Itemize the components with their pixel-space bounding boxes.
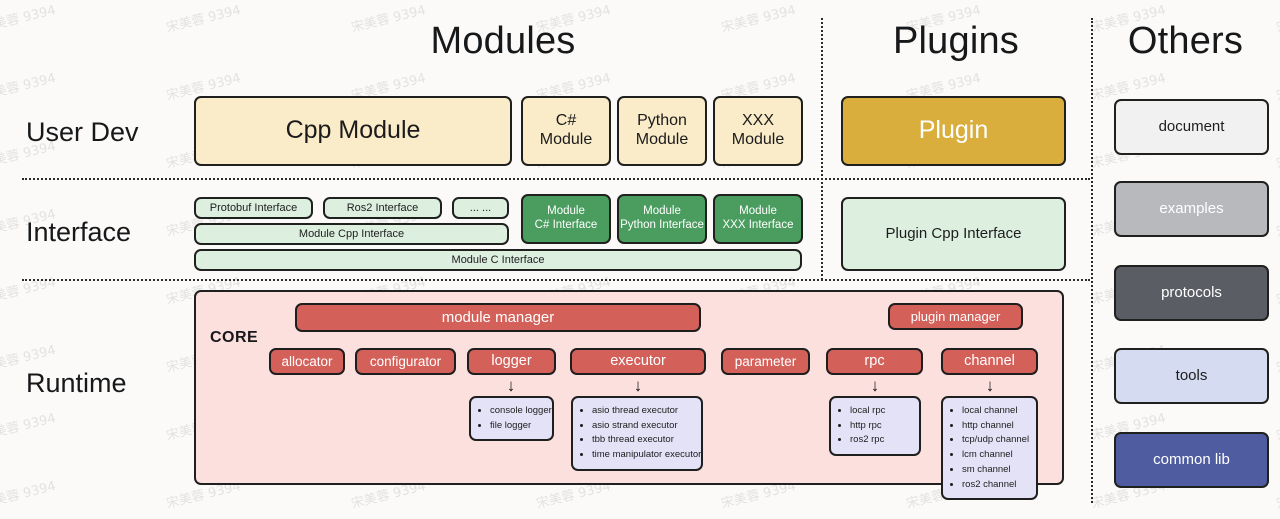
column-title-others: Others [1091, 20, 1280, 63]
row-label-interface: Interface [26, 217, 131, 248]
csharp-module-line1: C# [540, 112, 592, 131]
list-item: tcp/udp channel [962, 433, 1028, 448]
watermark-text: 宋美蓉 9394 [0, 475, 57, 512]
list-item: tbb thread executor [592, 433, 693, 448]
plugin-manager-box[interactable]: plugin manager [888, 303, 1023, 330]
watermark-text: 宋美蓉 9394 [1274, 339, 1280, 376]
watermark-text: 宋美蓉 9394 [1274, 67, 1280, 104]
channel-box[interactable]: channel [941, 348, 1038, 375]
module-xxx-interface-line1: Module [739, 205, 777, 219]
python-module-line2: Module [636, 131, 688, 150]
arrow-down-icon: ↓ [983, 376, 997, 396]
arrow-down-icon: ↓ [868, 376, 882, 396]
arrow-down-icon: ↓ [504, 376, 518, 396]
list-item: asio thread executor [592, 404, 693, 419]
list-item: ros2 channel [962, 478, 1028, 493]
column-title-modules: Modules [185, 20, 821, 63]
module-csharp-interface-box[interactable]: Module C# Interface [521, 194, 611, 244]
python-module-line1: Python [636, 112, 688, 131]
module-xxx-interface-line2: XXX Interface [723, 219, 794, 233]
plugin-cpp-interface-box[interactable]: Plugin Cpp Interface [841, 197, 1066, 271]
list-item: local rpc [850, 404, 911, 419]
list-item: file logger [490, 419, 544, 434]
channel-implementations-list: local channelhttp channeltcp/udp channel… [941, 396, 1038, 500]
watermark-text: 宋美蓉 9394 [1274, 271, 1280, 308]
others-item-protocols[interactable]: protocols [1114, 265, 1269, 321]
module-csharp-interface-line1: Module [547, 205, 585, 219]
list-item: http rpc [850, 419, 911, 434]
others-item-examples[interactable]: examples [1114, 181, 1269, 237]
more-interfaces-box[interactable]: ... ... [452, 197, 509, 219]
parameter-box[interactable]: parameter [721, 348, 810, 375]
executor-box[interactable]: executor [570, 348, 706, 375]
module-cpp-interface-box[interactable]: Module Cpp Interface [194, 223, 509, 245]
row-label-runtime: Runtime [26, 368, 127, 399]
row-separator-interface-runtime [22, 279, 1090, 281]
module-python-interface-box[interactable]: Module Python Interface [617, 194, 707, 244]
cpp-module-box[interactable]: Cpp Module [194, 96, 512, 166]
others-item-tools[interactable]: tools [1114, 348, 1269, 404]
watermark-text: 宋美蓉 9394 [0, 0, 57, 36]
list-item: http channel [962, 419, 1028, 434]
column-separator-plugins-others [1091, 18, 1093, 503]
csharp-module-box[interactable]: C# Module [521, 96, 611, 166]
logger-box[interactable]: logger [467, 348, 556, 375]
architecture-diagram: 宋美蓉 9394宋美蓉 9394宋美蓉 9394宋美蓉 9394宋美蓉 9394… [0, 0, 1280, 519]
xxx-module-line2: Module [732, 131, 784, 150]
list-item: console logger [490, 404, 544, 419]
watermark-text: 宋美蓉 9394 [0, 67, 57, 104]
watermark-text: 宋美蓉 9394 [1274, 135, 1280, 172]
plugin-box[interactable]: Plugin [841, 96, 1066, 166]
ros2-interface-box[interactable]: Ros2 Interface [323, 197, 442, 219]
row-label-user-dev: User Dev [26, 117, 139, 148]
column-title-plugins: Plugins [821, 20, 1091, 63]
module-python-interface-line1: Module [643, 205, 681, 219]
csharp-module-line2: Module [540, 131, 592, 150]
module-c-interface-box[interactable]: Module C Interface [194, 249, 802, 271]
allocator-box[interactable]: allocator [269, 348, 345, 375]
rpc-box[interactable]: rpc [826, 348, 923, 375]
rpc-implementations-list: local rpchttp rpcros2 rpc [829, 396, 921, 456]
xxx-module-box[interactable]: XXX Module [713, 96, 803, 166]
configurator-box[interactable]: configurator [355, 348, 456, 375]
list-item: time manipulator executor [592, 448, 693, 463]
others-item-common-lib[interactable]: common lib [1114, 432, 1269, 488]
list-item: sm channel [962, 463, 1028, 478]
core-label: CORE [210, 329, 258, 347]
executor-implementations-list: asio thread executorasio strand executor… [571, 396, 703, 471]
watermark-text: 宋美蓉 9394 [0, 271, 57, 308]
watermark-text: 宋美蓉 9394 [1274, 475, 1280, 512]
watermark-text: 宋美蓉 9394 [1274, 203, 1280, 240]
list-item: ros2 rpc [850, 433, 911, 448]
watermark-text: 宋美蓉 9394 [0, 407, 57, 444]
column-separator-modules-plugins [821, 18, 823, 280]
watermark-text: 宋美蓉 9394 [1274, 407, 1280, 444]
arrow-down-icon: ↓ [631, 376, 645, 396]
xxx-module-line1: XXX [732, 112, 784, 131]
list-item: lcm channel [962, 448, 1028, 463]
module-csharp-interface-line2: C# Interface [535, 219, 598, 233]
module-python-interface-line2: Python Interface [620, 219, 704, 233]
list-item: asio strand executor [592, 419, 693, 434]
module-manager-box[interactable]: module manager [295, 303, 701, 332]
logger-implementations-list: console loggerfile logger [469, 396, 554, 441]
list-item: local channel [962, 404, 1028, 419]
module-xxx-interface-box[interactable]: Module XXX Interface [713, 194, 803, 244]
row-separator-userdev-interface [22, 178, 1090, 180]
others-item-document[interactable]: document [1114, 99, 1269, 155]
protobuf-interface-box[interactable]: Protobuf Interface [194, 197, 313, 219]
python-module-box[interactable]: Python Module [617, 96, 707, 166]
